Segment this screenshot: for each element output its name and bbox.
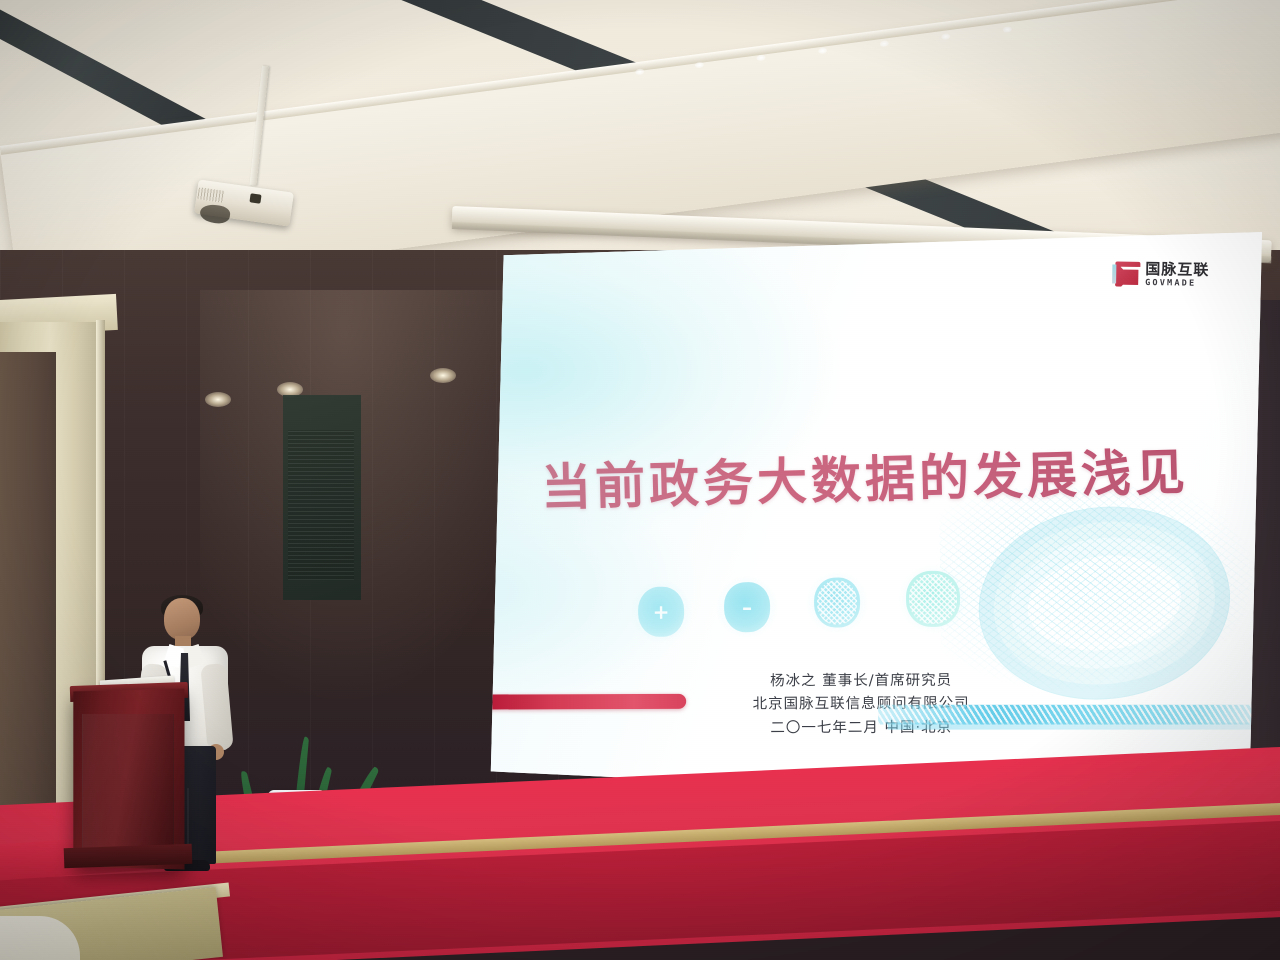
halftone-circle-icon [814,577,860,627]
presentation-slide: 国脉互联 GOVMADE 当前政务大数据的发展浅见 + – [456,224,1268,821]
decorative-cyan-strip-shadow [888,723,1278,730]
recessed-spotlight-right [430,368,456,383]
sphere-mesh-texture [909,574,957,624]
projection-screen: 国脉互联 GOVMADE 当前政务大数据的发展浅见 + – [462,232,1262,812]
recessed-spotlight-left [205,392,231,407]
logo-chinese-name: 国脉互联 [1145,262,1209,278]
govmade-logo: 国脉互联 GOVMADE [1115,261,1209,288]
doorway-recess [0,352,56,877]
minus-glyph: – [742,597,752,617]
logo-english-name: GOVMADE [1145,279,1209,289]
slide-icon-row: + – [638,575,968,647]
byline-presenter: 杨冰之 董事长/首席研究员 [676,669,1046,694]
loudspeaker-grille [288,430,354,580]
halftone-mesh-texture [817,580,857,624]
mesh-sphere-icon [906,571,960,627]
potted-palm [236,618,366,808]
podium-front-panel [82,714,174,852]
accent-bar [478,694,686,710]
projector-knob-icon [249,193,261,203]
logo-mark-icon [1115,262,1140,287]
presenter-head [164,598,200,640]
logo-wordmark: 国脉互联 GOVMADE [1145,262,1209,289]
photo-scene: 国脉互联 GOVMADE 当前政务大数据的发展浅见 + – [0,0,1280,960]
plus-glyph: + [653,602,670,622]
decorative-cyan-strip [878,705,1278,725]
minus-circle-icon: – [724,582,770,632]
plus-circle-icon: + [638,587,684,637]
